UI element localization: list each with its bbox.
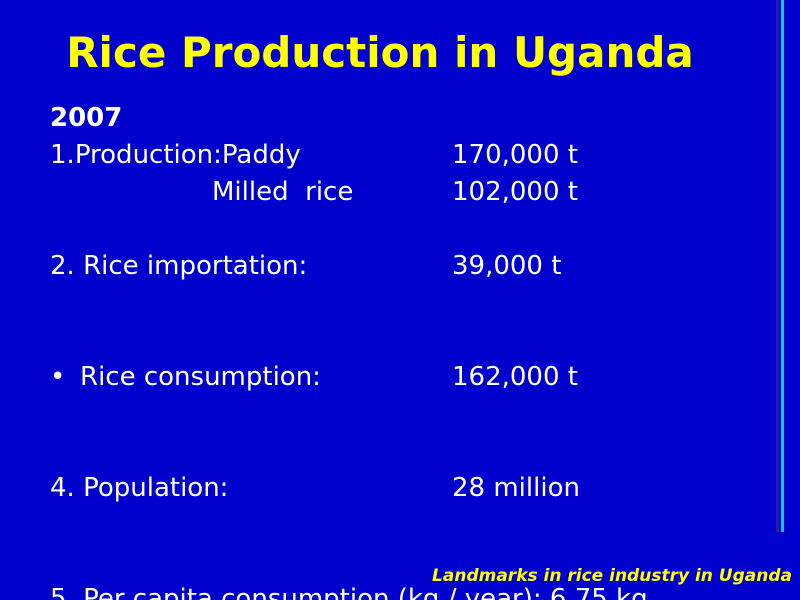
- list-item-text: Rice importation:: [83, 248, 307, 285]
- list-item-text: Milled rice: [50, 174, 353, 211]
- list-item-rice-importation: 2. Rice importation: 39,000 t: [50, 248, 770, 285]
- list-item-milled-rice: Milled rice 102,000 t: [50, 174, 770, 211]
- list-item-text: Rice consumption:: [80, 359, 321, 396]
- list-item-production-paddy: 1.Production:Paddy 170,000 t: [50, 137, 770, 174]
- list-item-value: 162,000 t: [452, 359, 578, 396]
- slide-canvas: Rice Production in Uganda 2007 1.Product…: [0, 0, 800, 600]
- year-heading-row: 2007: [50, 100, 770, 137]
- list-item-rice-consumption: •Rice consumption: 162,000 t: [50, 359, 770, 396]
- list-item-value: 39,000 t: [452, 248, 561, 285]
- decorative-vertical-line-dark: [776, 0, 779, 532]
- list-item-value: 28 million: [452, 470, 580, 507]
- slide-footer: Landmarks in rice industry in Uganda: [0, 566, 792, 586]
- decorative-vertical-line-cyan: [781, 0, 784, 532]
- list-item-label: 4.: [50, 470, 83, 507]
- list-item-value: 170,000 t: [452, 137, 578, 174]
- slide-body: 2007 1.Production:Paddy 170,000 t Milled…: [50, 100, 770, 600]
- list-item-value: 102,000 t: [452, 174, 578, 211]
- list-item-text: Production:Paddy: [75, 137, 301, 174]
- year-heading: 2007: [50, 100, 122, 137]
- list-item-label: 2.: [50, 248, 83, 285]
- slide-title: Rice Production in Uganda: [0, 28, 760, 77]
- list-item-population: 4. Population: 28 million: [50, 470, 770, 507]
- list-item-label: 1.: [50, 137, 75, 174]
- list-item-text: Population:: [83, 470, 228, 507]
- bullet-icon: •: [50, 359, 80, 396]
